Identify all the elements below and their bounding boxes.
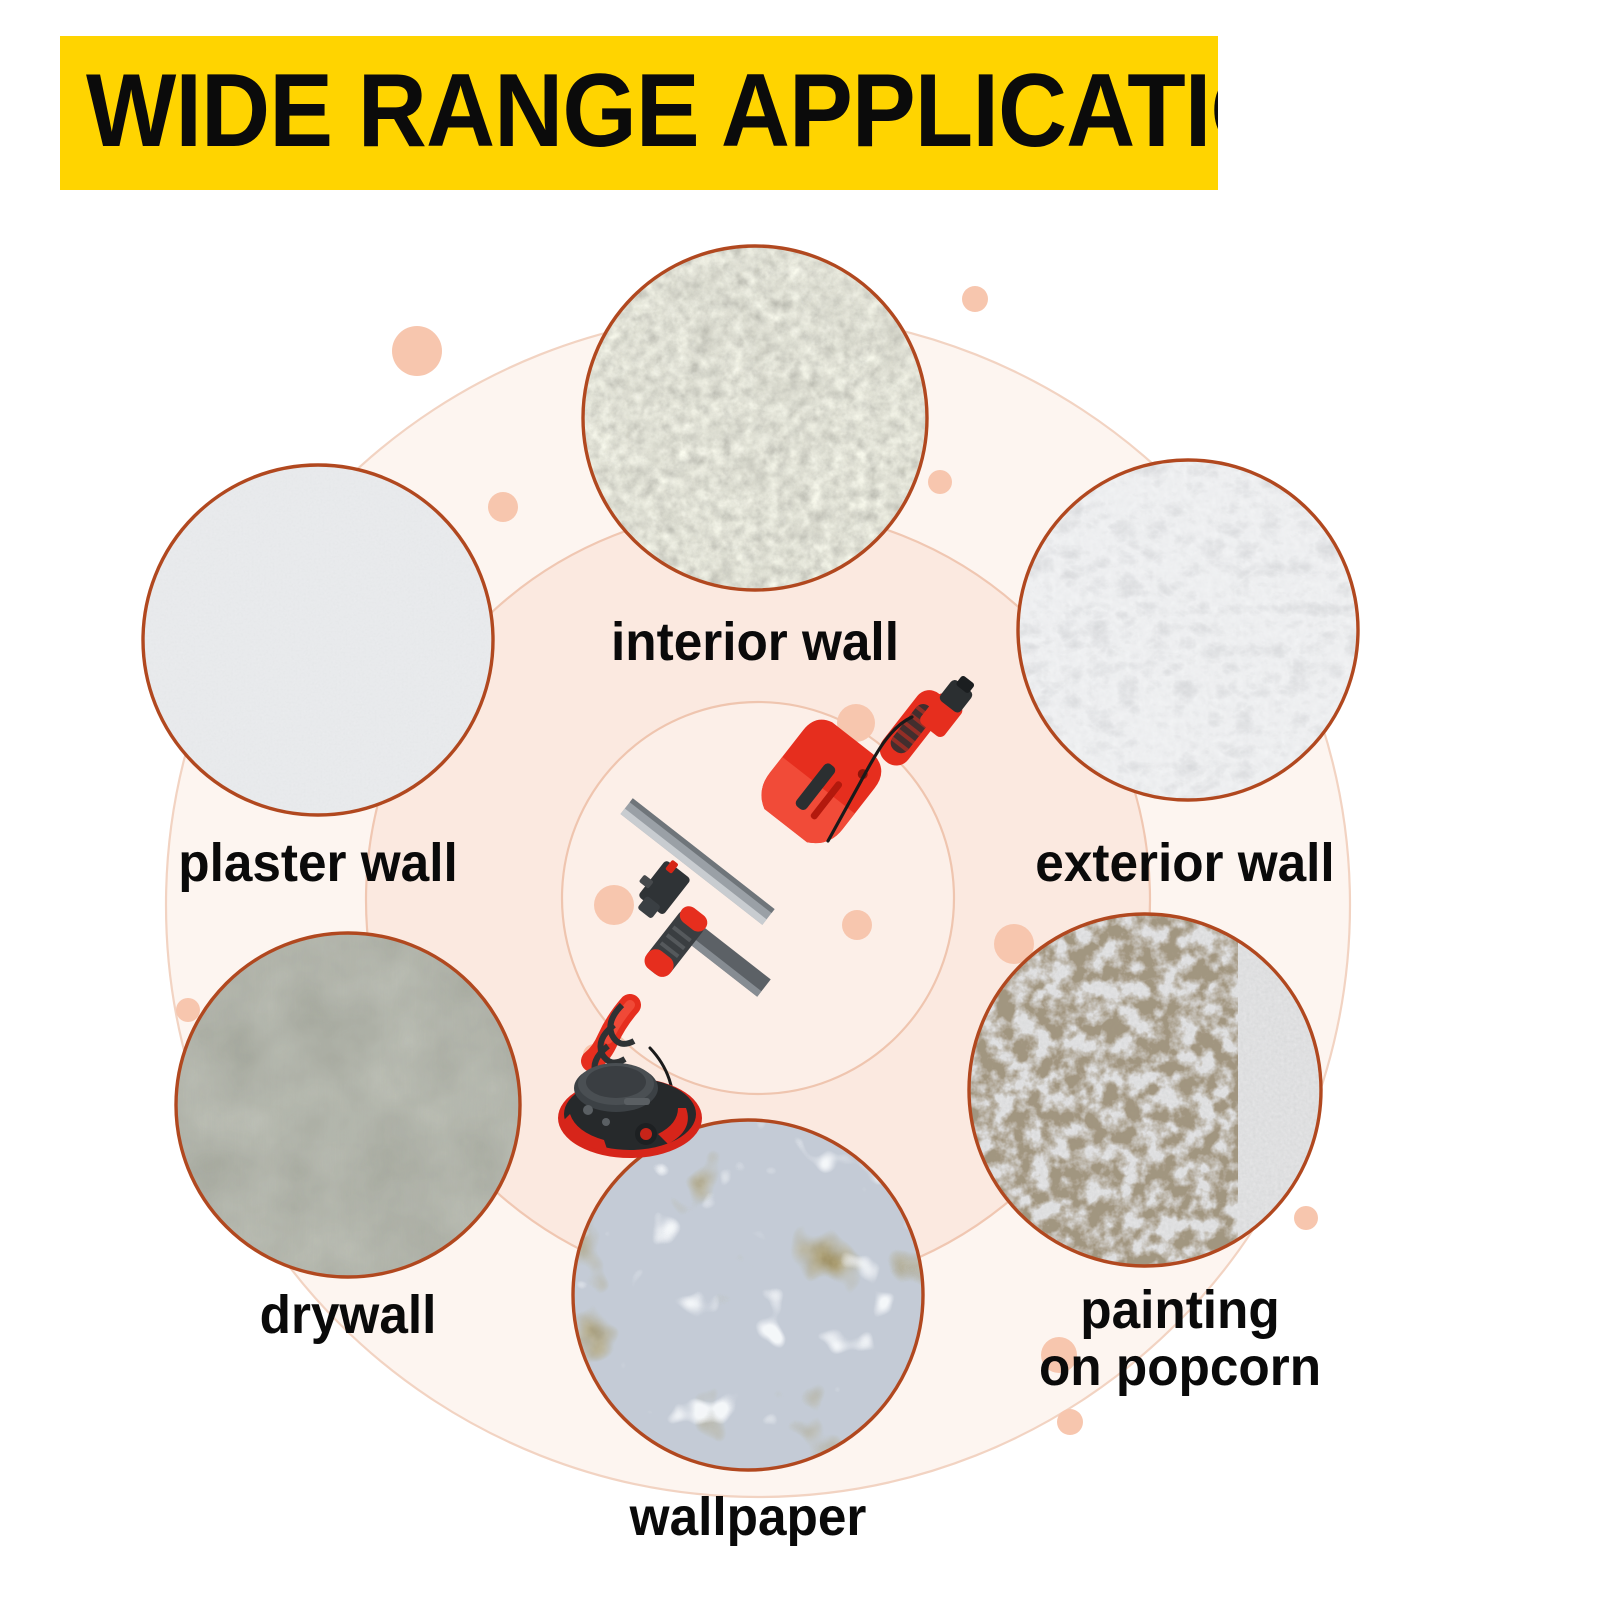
label-painting-on-popcorn: painting on popcorn [990, 1282, 1370, 1396]
infographic-canvas: WIDE RANGE APPLICATION interior wall pla… [0, 0, 1600, 1600]
decorative-dot [1057, 1409, 1083, 1435]
decorative-dot [176, 998, 200, 1022]
label-wallpaper: wallpaper [558, 1490, 938, 1545]
label-plaster-wall: plaster wall [128, 836, 508, 891]
label-interior-wall: interior wall [565, 615, 945, 670]
label-line-1: painting [990, 1282, 1370, 1339]
label-line-2: on popcorn [990, 1339, 1370, 1396]
decorative-dot [962, 286, 988, 312]
decorative-dot [1294, 1206, 1318, 1230]
decorative-dot [594, 885, 634, 925]
banner-title: WIDE RANGE APPLICATION [86, 59, 1218, 163]
decorative-dot [928, 470, 952, 494]
decorative-dot [392, 326, 442, 376]
decorative-dot [842, 910, 872, 940]
label-exterior-wall: exterior wall [995, 836, 1375, 891]
decorative-dot [488, 492, 518, 522]
banner: WIDE RANGE APPLICATION [60, 36, 1218, 190]
label-drywall: drywall [158, 1288, 538, 1343]
